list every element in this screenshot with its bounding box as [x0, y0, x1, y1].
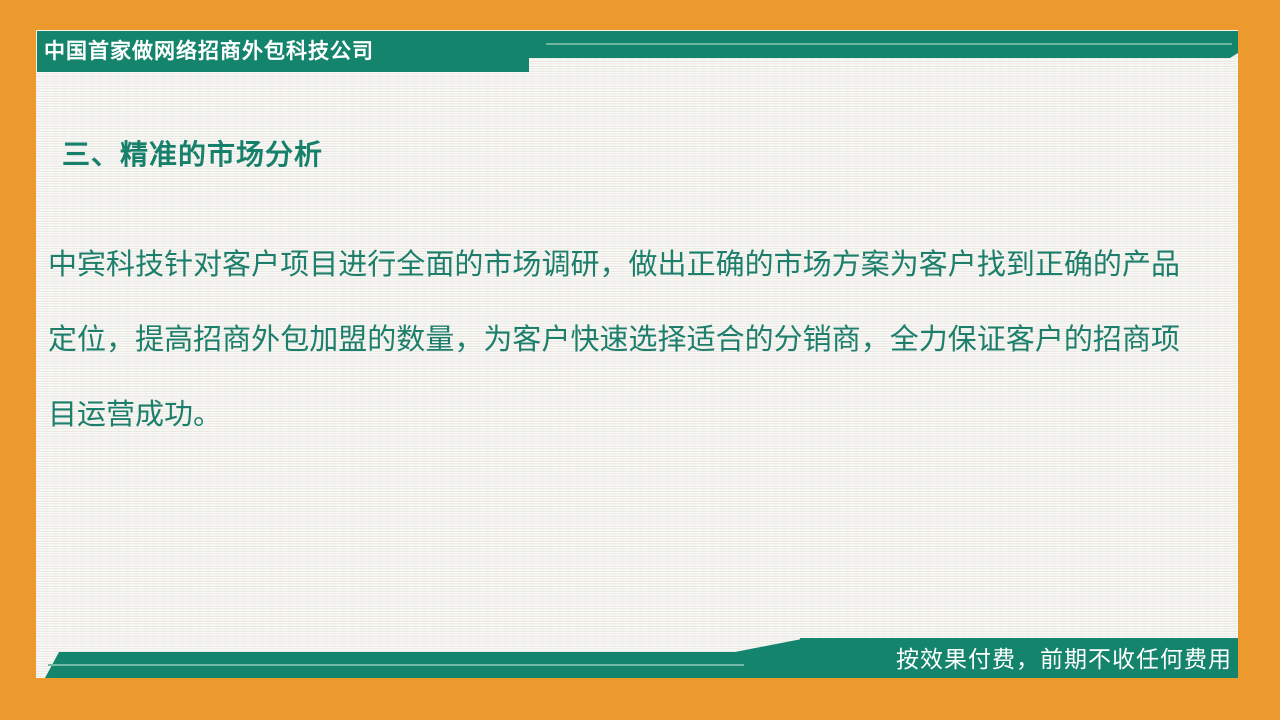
- company-tagline: 中国首家做网络招商外包科技公司: [44, 33, 374, 71]
- footer-slogan: 按效果付费，前期不收任何费用: [896, 643, 1232, 675]
- body-paragraph: 中宾科技针对客户项目进行全面的市场调研，做出正确的市场方案为客户找到正确的产品定…: [48, 228, 1180, 453]
- footer-hairline-rule: [48, 664, 744, 666]
- frame-border-right: [1238, 0, 1280, 720]
- header-hairline-rule: [546, 43, 1232, 45]
- section-heading: 三、精准的市场分析: [62, 133, 323, 173]
- frame-border-bottom: [0, 678, 1280, 720]
- frame-border-left: [0, 0, 36, 720]
- presentation-slide: 中国首家做网络招商外包科技公司 三、精准的市场分析 中宾科技针对客户项目进行全面…: [0, 0, 1280, 720]
- frame-border-top: [0, 0, 1280, 30]
